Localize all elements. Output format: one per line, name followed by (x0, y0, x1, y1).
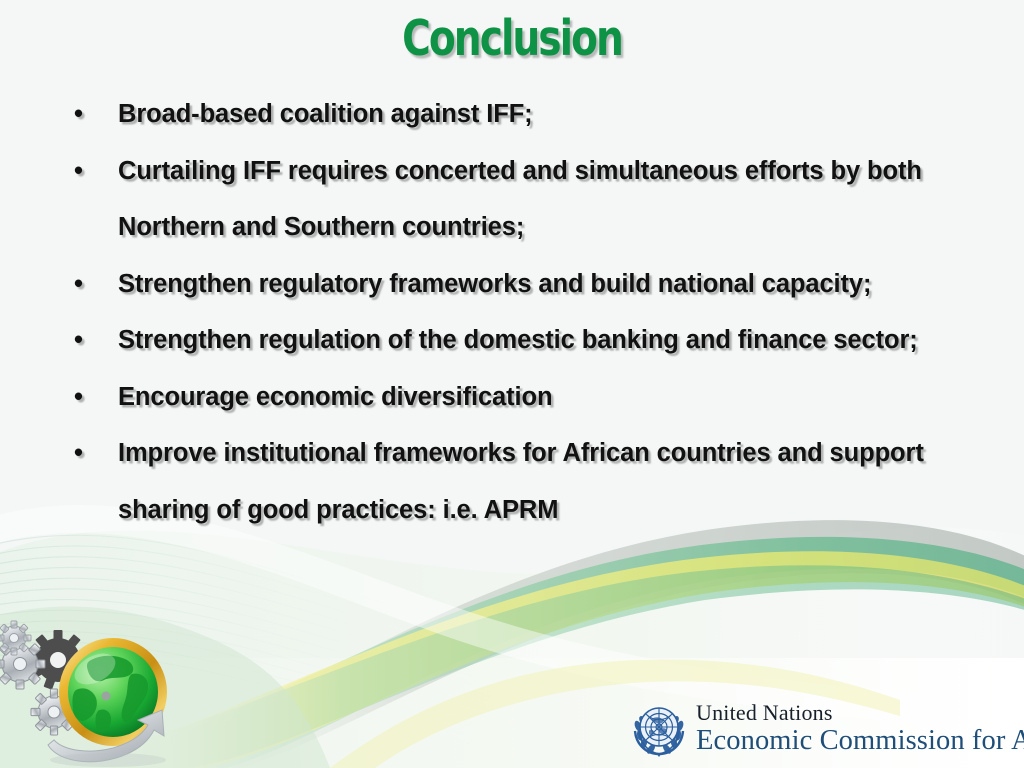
bullet-list: • Broad-based coalition against IFF; • C… (62, 86, 1014, 538)
list-item-text: Strengthen regulation of the domestic ba… (118, 312, 1014, 369)
globe-and-gears-icon (0, 614, 206, 768)
bullet-dot: • (74, 425, 94, 482)
list-item: • Broad-based coalition against IFF; (62, 86, 1014, 143)
list-item-text: Improve institutional frameworks for Afr… (118, 425, 1014, 538)
slide-title: Conclusion (102, 12, 921, 66)
list-item-text: Broad-based coalition against IFF; (118, 86, 1014, 143)
list-item-text: Strengthen regulatory frameworks and bui… (118, 256, 1014, 313)
un-emblem-icon (630, 702, 688, 758)
list-item: • Curtailing IFF requires concerted and … (62, 143, 1014, 256)
bullet-dot: • (74, 369, 94, 426)
logo-text-block: United Nations Economic Commission for A… (696, 700, 1024, 757)
list-item-text: Encourage economic diversification (118, 369, 1014, 426)
uneca-logo: United Nations Economic Commission for A… (630, 700, 1020, 762)
bullet-dot: • (74, 86, 94, 143)
list-item-text: Curtailing IFF requires concerted and si… (118, 143, 1014, 256)
list-item: • Encourage economic diversification (62, 369, 1014, 426)
logo-line-united-nations: United Nations (696, 700, 1024, 725)
list-item: • Strengthen regulatory frameworks and b… (62, 256, 1014, 313)
bullet-dot: • (74, 256, 94, 313)
list-item: • Strengthen regulation of the domestic … (62, 312, 1014, 369)
logo-line-eca: Economic Commission for Africa (696, 725, 1024, 757)
list-item: • Improve institutional frameworks for A… (62, 425, 1014, 538)
bullet-dot: • (74, 312, 94, 369)
bullet-dot: • (74, 143, 94, 200)
slide-canvas: Conclusion • Broad-based coalition again… (0, 0, 1024, 768)
